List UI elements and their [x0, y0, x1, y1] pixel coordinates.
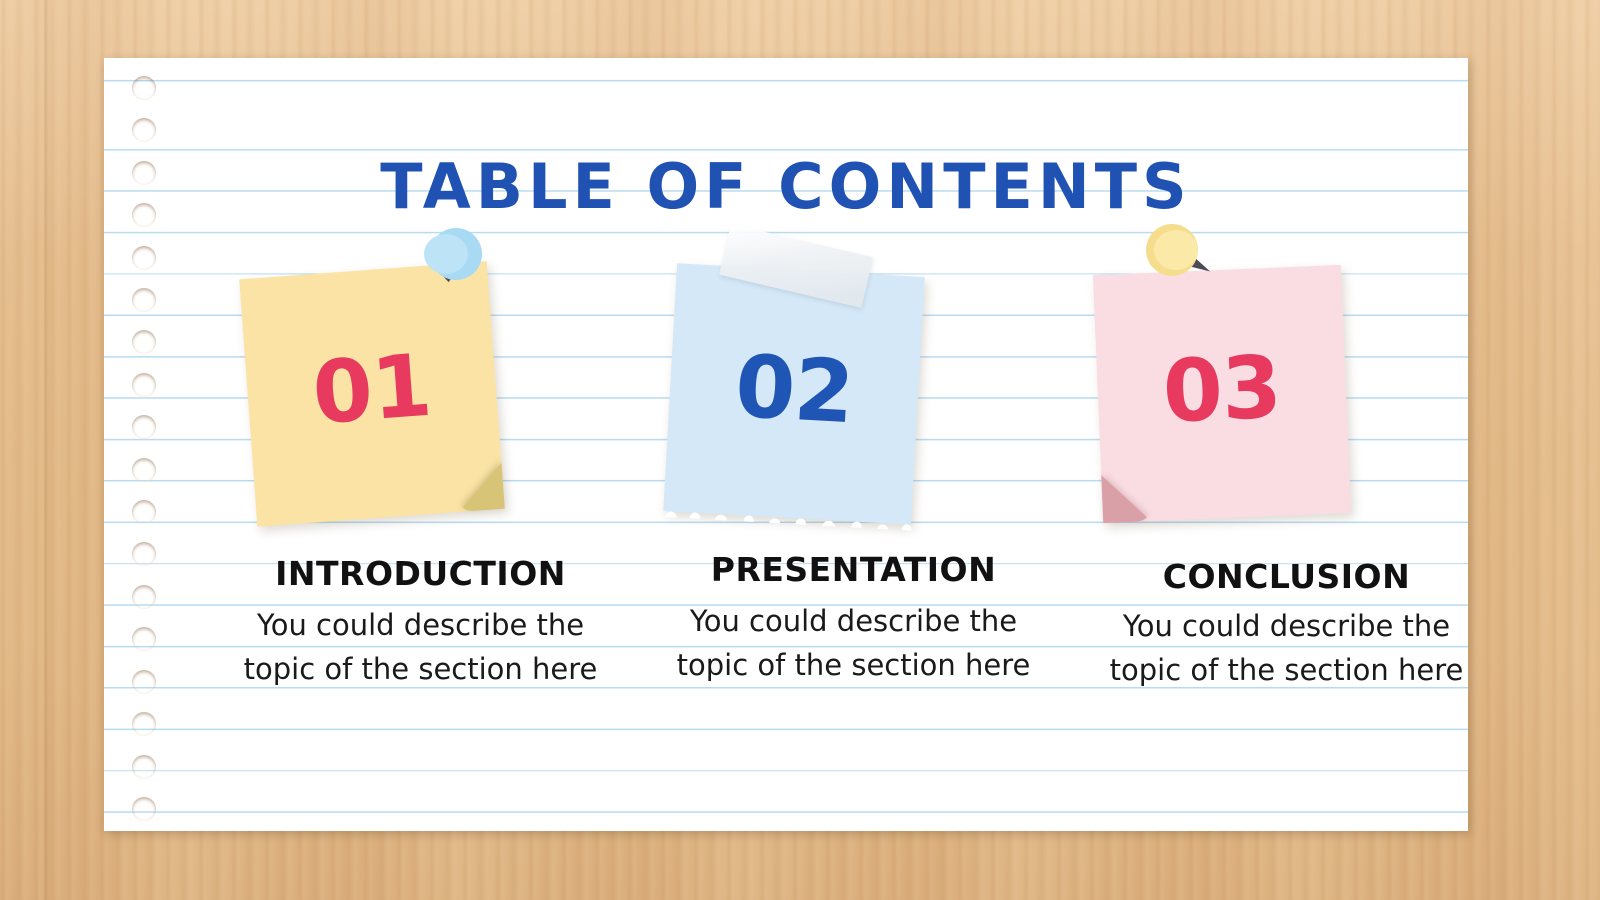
binding-hole: [132, 246, 156, 270]
yellow-pushpin-icon: [1146, 224, 1200, 278]
sticky-note-03[interactable]: 03: [1093, 265, 1351, 523]
section-heading: INTRODUCTION: [228, 554, 613, 593]
binding-hole: [132, 755, 156, 779]
note-number-01: 01: [310, 343, 434, 437]
binding-hole: [132, 288, 156, 312]
sticky-note-02[interactable]: 02: [663, 263, 924, 524]
section-column-introduction: INTRODUCTION You could describe the topi…: [204, 554, 637, 691]
binding-hole: [132, 373, 156, 397]
binding-hole: [132, 542, 156, 566]
binding-hole: [132, 415, 156, 439]
pushpin-cap-icon: [1154, 230, 1198, 270]
torn-edge-icon: [661, 503, 913, 531]
sticky-note-02-slot: 02: [656, 218, 956, 568]
binding-hole: [132, 76, 156, 100]
binding-hole: [132, 712, 156, 736]
notebook-sheet: TABLE OF CONTENTS 01 02: [104, 58, 1468, 831]
note-number-03: 03: [1161, 345, 1282, 436]
tape-strip-icon: [719, 224, 873, 308]
binding-hole: [132, 797, 156, 821]
binding-hole: [132, 458, 156, 482]
section-column-conclusion: CONCLUSION You could describe the topic …: [1070, 554, 1503, 691]
section-heading: CONCLUSION: [1094, 557, 1479, 596]
folded-corner-icon: [456, 463, 505, 512]
binding-hole: [132, 585, 156, 609]
sticky-notes-row: 01 02 03: [204, 218, 1468, 568]
binding-hole: [132, 118, 156, 142]
binding-hole: [132, 627, 156, 651]
binding-hole: [132, 330, 156, 354]
sticky-note-03-slot: 03: [1084, 218, 1384, 568]
blue-pushpin-icon: [430, 228, 484, 282]
section-body: You could describe the topic of the sect…: [1094, 604, 1479, 692]
binding-hole: [132, 670, 156, 694]
wood-desk-background: TABLE OF CONTENTS 01 02: [0, 0, 1600, 900]
section-body: You could describe the topic of the sect…: [228, 603, 613, 691]
section-column-presentation: PRESENTATION You could describe the topi…: [637, 554, 1070, 691]
page-title: TABLE OF CONTENTS: [104, 150, 1468, 223]
section-heading: PRESENTATION: [661, 550, 1046, 589]
section-body: You could describe the topic of the sect…: [661, 599, 1046, 687]
binding-hole: [132, 500, 156, 524]
folded-corner-icon: [1101, 473, 1151, 523]
note-number-02: 02: [733, 344, 855, 436]
pushpin-cap-icon: [424, 234, 468, 274]
sticky-note-01[interactable]: 01: [239, 261, 504, 526]
section-descriptions: INTRODUCTION You could describe the topi…: [204, 554, 1504, 691]
sticky-note-01-slot: 01: [234, 218, 534, 568]
